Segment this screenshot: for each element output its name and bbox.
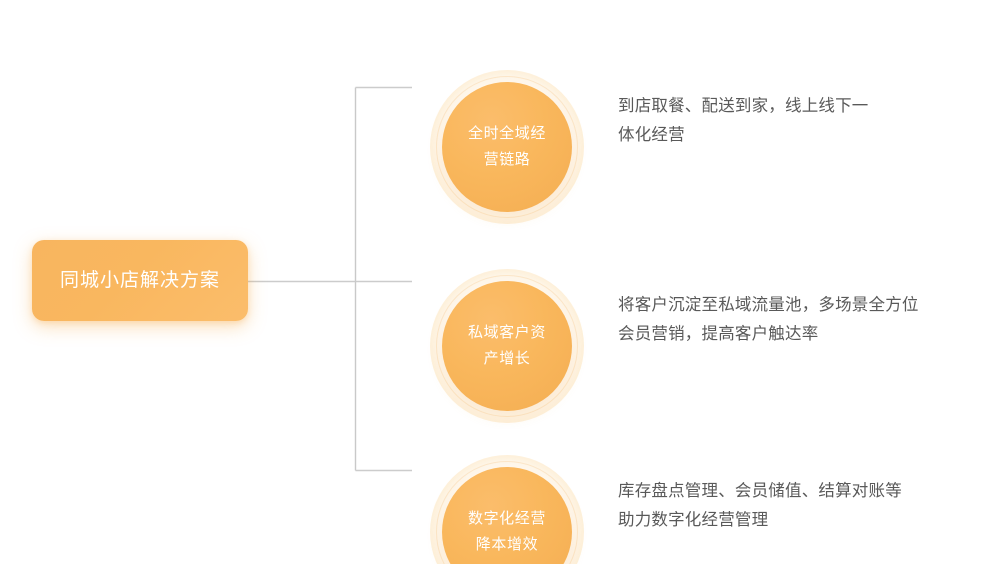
- branch-1-desc-line-2: 体化经营: [618, 121, 958, 150]
- branch-1-description: 到店取餐、配送到家，线上线下一 体化经营: [618, 92, 958, 150]
- branch-1-desc-line-1: 到店取餐、配送到家，线上线下一: [618, 92, 958, 121]
- branch-3-desc-line-1: 库存盘点管理、会员储值、结算对账等: [618, 477, 958, 506]
- branch-2-description: 将客户沉淀至私域流量池，多场景全方位 会员营销，提高客户触达率: [618, 291, 958, 349]
- branch-2: 私域客户资 产增长 将客户沉淀至私域流量池，多场景全方位 会员营销，提高客户触达…: [0, 196, 990, 366]
- branch-3-circle[interactable]: 数字化经营 降本增效: [430, 455, 584, 564]
- branch-3-desc-line-2: 助力数字化经营管理: [618, 506, 958, 535]
- branch-2-desc-line-1: 将客户沉淀至私域流量池，多场景全方位: [618, 291, 958, 320]
- branch-1-circle-label-line-2: 营链路: [484, 147, 531, 173]
- branch-2-circle-label-line-2: 产增长: [484, 346, 531, 372]
- circle-body: 全时全域经 营链路: [442, 82, 572, 212]
- branch-2-desc-line-2: 会员营销，提高客户触达率: [618, 320, 958, 349]
- branch-3: 数字化经营 降本增效 库存盘点管理、会员储值、结算对账等 助力数字化经营管理: [0, 382, 990, 552]
- branch-3-circle-label-line-1: 数字化经营: [468, 506, 546, 532]
- branch-3-description: 库存盘点管理、会员储值、结算对账等 助力数字化经营管理: [618, 477, 958, 535]
- branch-1: 全时全域经 营链路 到店取餐、配送到家，线上线下一 体化经营: [0, 0, 990, 167]
- branch-3-circle-label-line-2: 降本增效: [476, 532, 538, 558]
- branch-2-circle-label-line-1: 私域客户资: [468, 320, 546, 346]
- branch-1-circle-label-line-1: 全时全域经: [468, 121, 546, 147]
- solution-diagram: 同城小店解决方案 全时全域经 营链路 到店取餐、配送到家，线上线下一 体化经营 …: [0, 0, 990, 564]
